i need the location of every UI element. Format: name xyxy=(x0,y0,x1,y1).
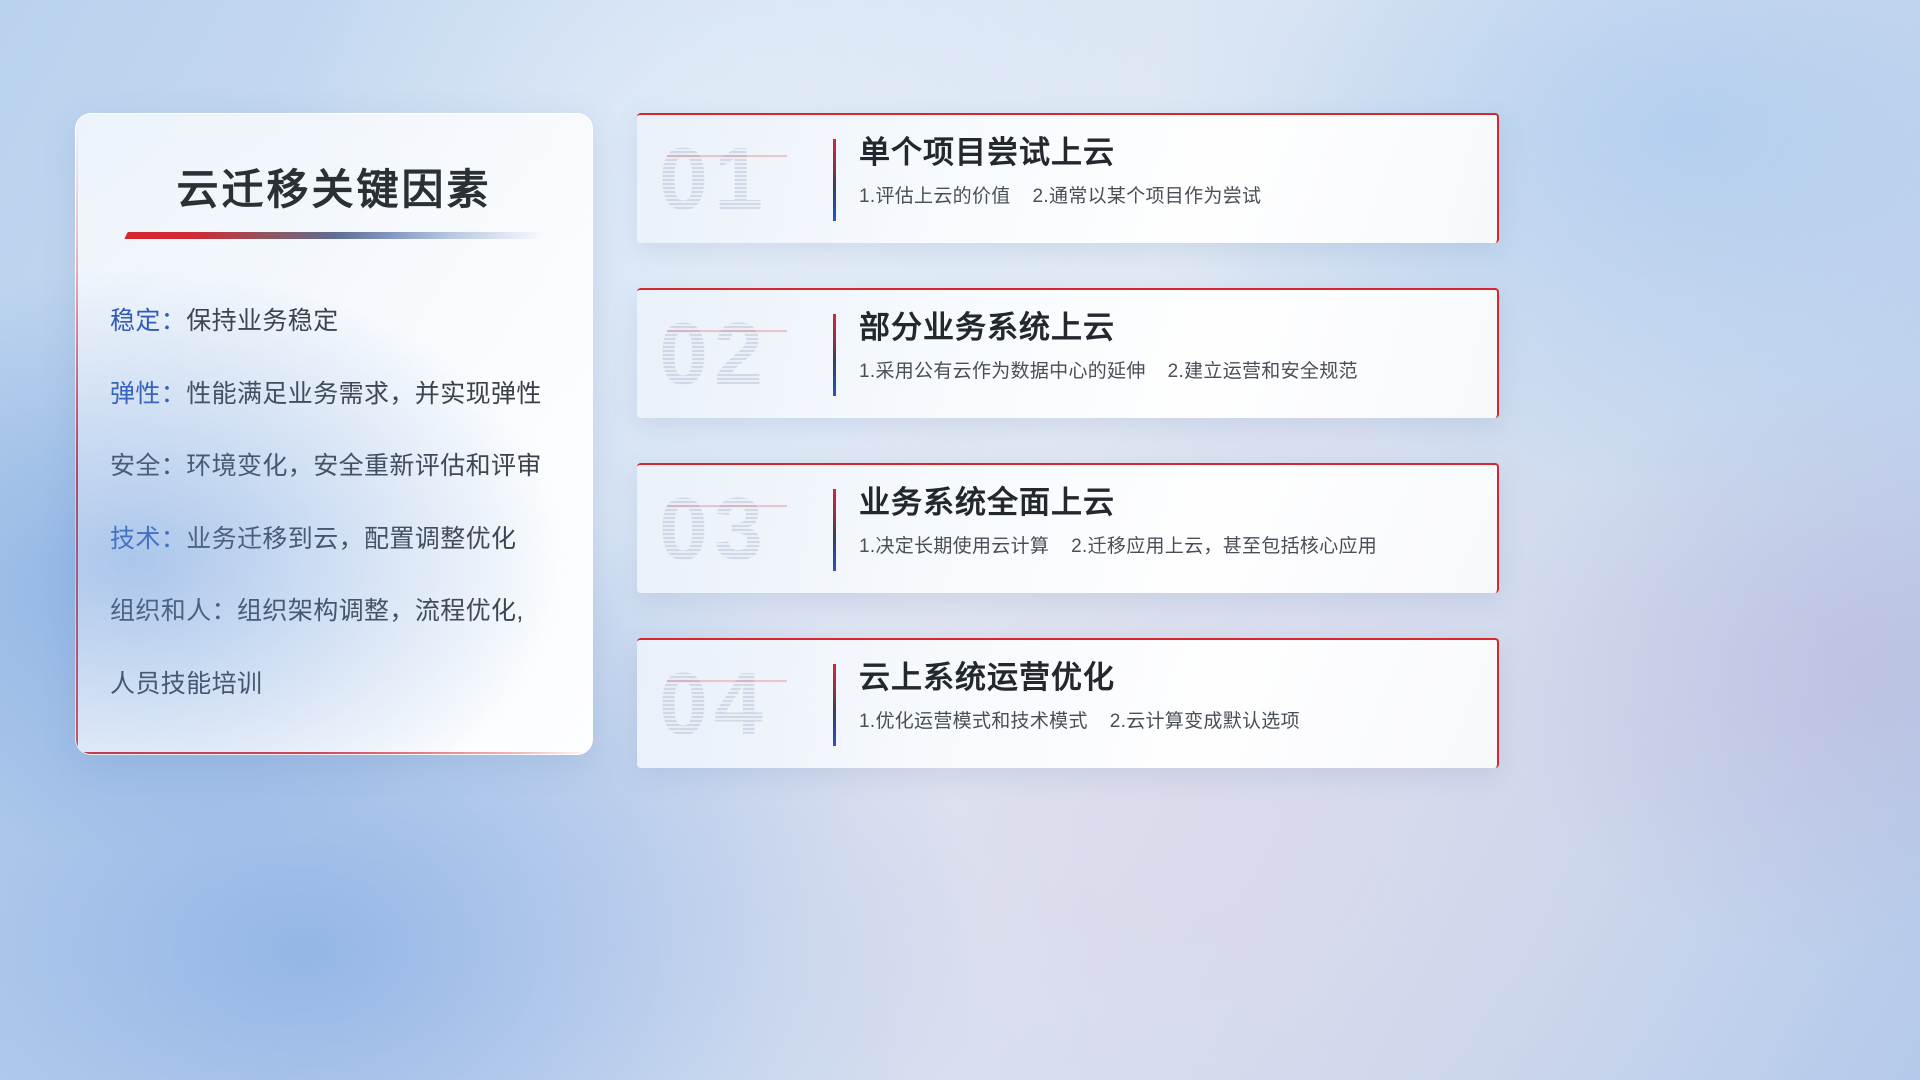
panel-bottom-accent-rule xyxy=(76,752,592,754)
step-text-01: 单个项目尝试上云 1.评估上云的价值2.通常以某个项目作为尝试 xyxy=(859,133,1479,208)
factor-item-2: 安全：环境变化，安全重新评估和评审 xyxy=(110,451,566,482)
factor-value-1: 性能满足业务需求，并实现弹性 xyxy=(186,380,542,408)
card-top-border-fade xyxy=(637,288,937,290)
factor-item-0: 稳定：保持业务稳定 xyxy=(110,306,566,337)
step-title-04: 云上系统运营优化 xyxy=(859,658,1479,697)
page-title: 云迁移关键因素 xyxy=(76,156,592,217)
key-factors-panel: 云迁移关键因素 稳定：保持业务稳定 弹性：性能满足业务需求，并实现弹性 安全：环… xyxy=(75,113,593,755)
step-point2-02: 2.建立运营和安全规范 xyxy=(1168,361,1358,382)
step-point2-03: 2.迁移应用上云，甚至包括核心应用 xyxy=(1071,536,1377,557)
step-subtitle-01: 1.评估上云的价值2.通常以某个项目作为尝试 xyxy=(859,181,1479,208)
card-top-border-fade xyxy=(637,638,937,640)
step-subtitle-04: 1.优化运营模式和技术模式2.云计算变成默认选项 xyxy=(859,706,1479,733)
factor-item-1: 弹性：性能满足业务需求，并实现弹性 xyxy=(110,379,566,410)
step-point2-04: 2.云计算变成默认选项 xyxy=(1110,711,1300,732)
factor-list: 稳定：保持业务稳定 弹性：性能满足业务需求，并实现弹性 安全：环境变化，安全重新… xyxy=(110,306,566,699)
factor-item-4: 组织和人：组织架构调整，流程优化, xyxy=(110,596,566,627)
factor-item-3: 技术：业务迁移到云，配置调整优化 xyxy=(110,524,566,555)
step-title-02: 部分业务系统上云 xyxy=(859,308,1479,347)
factor-value-5: 人员技能培训 xyxy=(110,670,262,698)
step-divider-04 xyxy=(833,664,836,746)
step-divider-02 xyxy=(833,314,836,396)
step-point1-03: 1.决定长期使用云计算 xyxy=(859,536,1049,557)
step-point1-02: 1.采用公有云作为数据中心的延伸 xyxy=(859,361,1146,382)
step-text-04: 云上系统运营优化 1.优化运营模式和技术模式2.云计算变成默认选项 xyxy=(859,658,1479,733)
card-top-border-fade xyxy=(637,463,937,465)
factor-label-3: 技术： xyxy=(110,525,186,553)
card-top-border-fade xyxy=(637,113,937,115)
panel-left-accent-rule xyxy=(76,124,78,755)
step-text-03: 业务系统全面上云 1.决定长期使用云计算2.迁移应用上云，甚至包括核心应用 xyxy=(859,483,1479,558)
factor-value-3: 业务迁移到云，配置调整优化 xyxy=(186,525,516,553)
step-number-01: 01 xyxy=(659,121,849,237)
step-subtitle-02: 1.采用公有云作为数据中心的延伸2.建立运营和安全规范 xyxy=(859,356,1479,383)
step-point2-01: 2.通常以某个项目作为尝试 xyxy=(1033,186,1262,207)
factor-value-4: 组织架构调整，流程优化, xyxy=(237,597,524,625)
title-underline-gradient xyxy=(124,232,545,239)
slide-canvas: 云迁移关键因素 稳定：保持业务稳定 弹性：性能满足业务需求，并实现弹性 安全：环… xyxy=(0,0,1920,1080)
step-number-03: 03 xyxy=(659,471,849,587)
factor-item-5: 人员技能培训 xyxy=(110,669,566,700)
factor-value-2: 环境变化，安全重新评估和评审 xyxy=(186,452,542,480)
factor-label-0: 稳定： xyxy=(110,307,186,335)
step-text-02: 部分业务系统上云 1.采用公有云作为数据中心的延伸2.建立运营和安全规范 xyxy=(859,308,1479,383)
step-card-03[interactable]: 03 业务系统全面上云 1.决定长期使用云计算2.迁移应用上云，甚至包括核心应用 xyxy=(637,463,1499,593)
factor-label-4: 组织和人： xyxy=(110,597,237,625)
step-card-01[interactable]: 01 单个项目尝试上云 1.评估上云的价值2.通常以某个项目作为尝试 xyxy=(637,113,1499,243)
factor-value-0: 保持业务稳定 xyxy=(186,307,338,335)
factor-label-2: 安全： xyxy=(110,452,186,480)
step-point1-04: 1.优化运营模式和技术模式 xyxy=(859,711,1088,732)
migration-steps-list: 01 单个项目尝试上云 1.评估上云的价值2.通常以某个项目作为尝试 02 部分… xyxy=(637,113,1499,768)
step-number-04: 04 xyxy=(659,646,849,762)
step-divider-03 xyxy=(833,489,836,571)
step-number-02: 02 xyxy=(659,296,849,412)
step-subtitle-03: 1.决定长期使用云计算2.迁移应用上云，甚至包括核心应用 xyxy=(859,531,1479,558)
step-divider-01 xyxy=(833,139,836,221)
factor-label-1: 弹性： xyxy=(110,380,186,408)
step-title-01: 单个项目尝试上云 xyxy=(859,133,1479,172)
step-title-03: 业务系统全面上云 xyxy=(859,483,1479,522)
step-card-02[interactable]: 02 部分业务系统上云 1.采用公有云作为数据中心的延伸2.建立运营和安全规范 xyxy=(637,288,1499,418)
step-point1-01: 1.评估上云的价值 xyxy=(859,186,1011,207)
step-card-04[interactable]: 04 云上系统运营优化 1.优化运营模式和技术模式2.云计算变成默认选项 xyxy=(637,638,1499,768)
